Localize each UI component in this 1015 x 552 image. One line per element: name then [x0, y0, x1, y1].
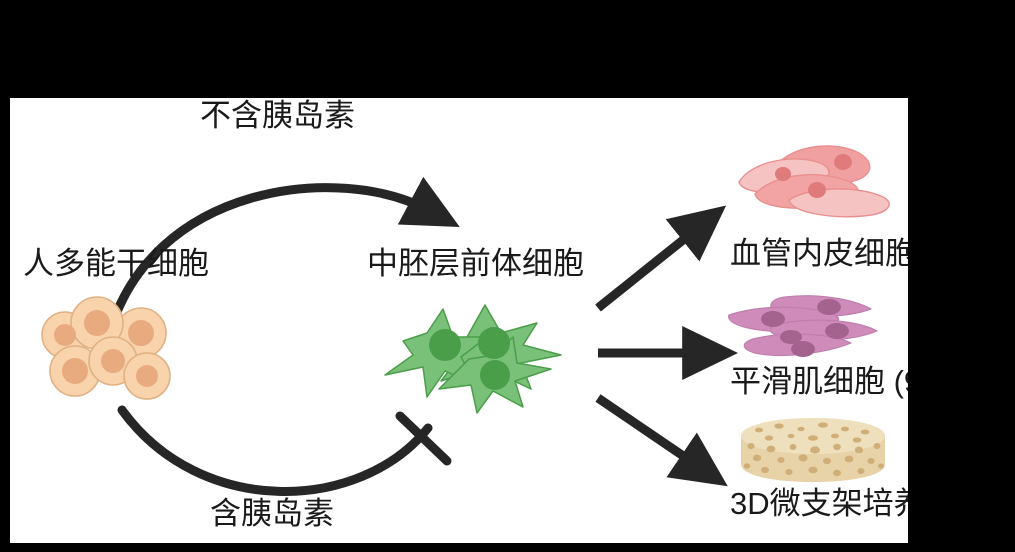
label-with-insulin: 含胰岛素 [210, 498, 334, 529]
endothelial-cell-icon [725, 138, 890, 228]
label-no-insulin: 不含胰岛素 [200, 100, 355, 131]
smooth-muscle-cell-icon [725, 293, 890, 368]
label-endothelial-cell: 血管内皮细胞 [730, 238, 908, 269]
diagram-canvas: 不含胰岛素 人多能干细胞 中胚层前体细胞 含胰岛素 血管内皮细胞 平滑肌细胞 (… [10, 98, 908, 543]
edge-to-endothelial [598, 228, 698, 308]
edge-to-scaffold [598, 398, 698, 466]
label-hpsc: 人多能干细胞 [23, 248, 209, 279]
label-mesoderm-progenitor: 中胚层前体细胞 [367, 248, 584, 279]
hpsc-cell-cluster-icon [35, 293, 180, 403]
label-smooth-muscle-cell: 平滑肌细胞 (9 [730, 366, 908, 397]
edge-insulin-arc [122, 410, 447, 491]
figure-stage: 不含胰岛素 人多能干细胞 中胚层前体细胞 含胰岛素 血管内皮细胞 平滑肌细胞 (… [0, 0, 1015, 552]
label-3d-microscaffold-culture: 3D微支架培养 [730, 488, 908, 519]
3d-microscaffold-icon [735, 416, 890, 486]
mesoderm-progenitor-cell-icon [365, 293, 590, 418]
